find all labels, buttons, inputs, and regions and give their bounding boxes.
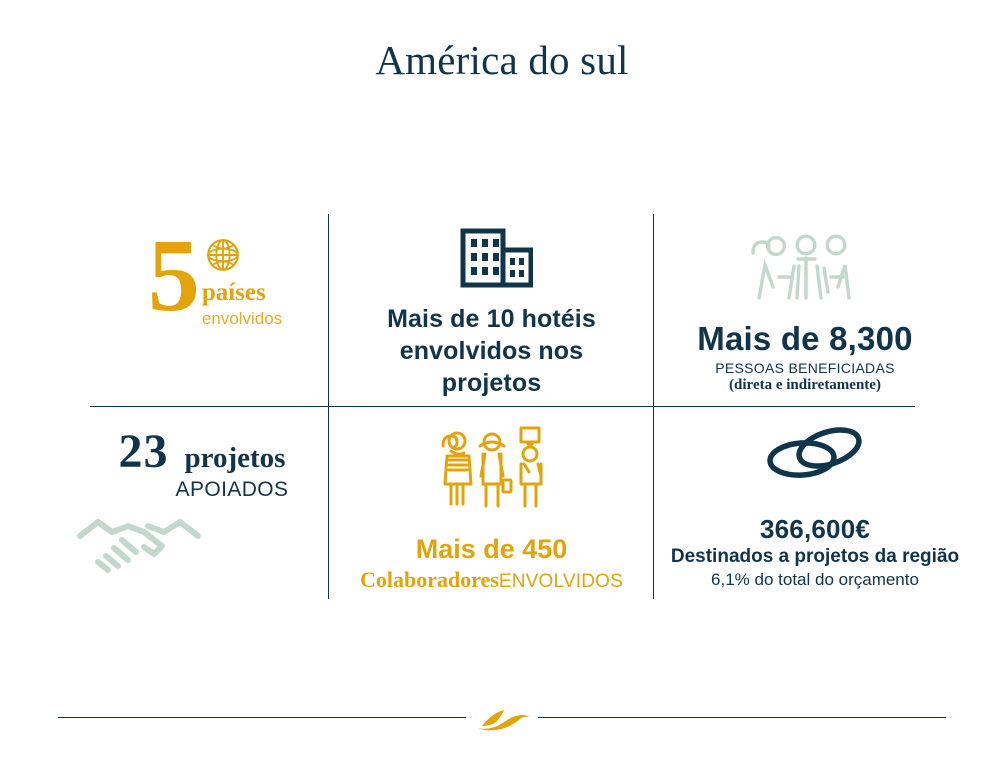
staff-sub-light: ENVOLVIDOS [499, 571, 623, 592]
coins-icon [655, 424, 975, 487]
hotel-staff-icon [330, 424, 653, 521]
flying-bird-logo [466, 700, 538, 736]
projects-number: 23 [119, 428, 169, 476]
stat-countries: 5 países envolvidos [88, 230, 328, 400]
staff-sub: ColaboradoresENVOLVIDOS [330, 568, 653, 593]
staff-sub-bold: Colaboradores [360, 567, 499, 592]
people-sub-primary: PESSOAS BENEFICIADAS [655, 360, 955, 376]
budget-description: Destinados a projetos da região [655, 546, 975, 569]
buildings-icon [330, 228, 653, 293]
budget-amount: 366,600€ [655, 515, 975, 544]
hotels-text-line2: envolvidos nos [330, 335, 653, 367]
handshake-icon [58, 506, 328, 581]
projects-label-secondary: APOIADOS [58, 478, 328, 502]
stat-projects: 23 projetos APOIADOS [58, 428, 328, 598]
footer [58, 700, 946, 746]
stat-hotels: Mais de 10 hotéis envolvidos nos projeto… [330, 214, 653, 406]
budget-percentage: 6,1% do total do orçamento [655, 569, 975, 590]
stats-grid: 5 países envolvidos [58, 200, 946, 600]
people-group-icon [655, 230, 955, 315]
globe-icon [204, 236, 282, 279]
countries-label-secondary: envolvidos [202, 308, 282, 330]
hotels-text-line1: Mais de 10 hotéis [330, 303, 653, 335]
countries-label-primary: países [202, 280, 282, 306]
staff-headline: Mais de 450 [330, 535, 653, 565]
stat-staff: Mais de 450 ColaboradoresENVOLVIDOS [330, 412, 653, 600]
projects-label-primary: projetos [185, 442, 286, 475]
people-sub-secondary: (direta e indiretamente) [655, 377, 955, 394]
stat-people: Mais de 8,300 PESSOAS BENEFICIADAS (dire… [655, 214, 955, 406]
grid-divider-horizontal [90, 406, 915, 407]
stat-budget: 366,600€ Destinados a projetos da região… [655, 418, 975, 600]
countries-number: 5 [148, 230, 198, 322]
hotels-text-line3: projetos [330, 367, 653, 399]
hotels-text: Mais de 10 hotéis envolvidos nos projeto… [330, 303, 653, 399]
people-headline: Mais de 8,300 [655, 321, 955, 357]
page-title: América do sul [0, 36, 1004, 84]
